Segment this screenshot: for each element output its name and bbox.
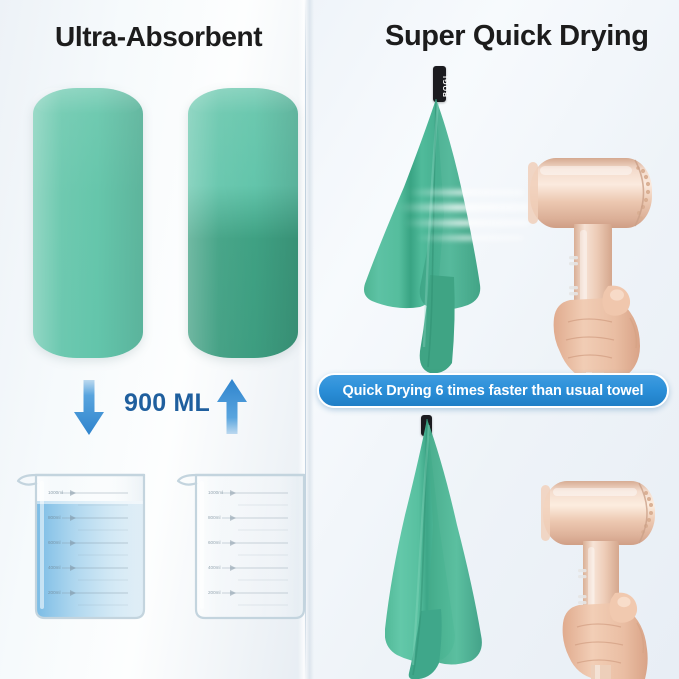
svg-text:200ml: 200ml xyxy=(208,590,221,595)
hair-dryer-top xyxy=(512,140,679,390)
beaker-empty: 1000ml 800ml 600ml 400ml 200ml xyxy=(176,459,320,625)
left-panel-title: Ultra-Absorbent xyxy=(55,21,262,53)
quick-drying-badge-label: Quick Drying 6 times faster than usual t… xyxy=(343,383,644,399)
dry-towel-roll xyxy=(33,88,143,358)
svg-text:800ml: 800ml xyxy=(48,515,61,520)
beaker-with-water: 1000ml 800ml 600ml 400ml 200ml xyxy=(16,459,160,625)
volume-label: 900 ML xyxy=(124,389,210,418)
svg-text:400ml: 400ml xyxy=(48,565,61,570)
dry-towel-roll-top xyxy=(33,88,143,114)
infographic-canvas: Ultra-Absorbent Super Quick Drying 900 M… xyxy=(0,0,679,679)
svg-text:800ml: 800ml xyxy=(208,515,221,520)
arrow-down-icon xyxy=(72,380,106,436)
hand xyxy=(554,286,640,384)
airflow-streak xyxy=(416,236,524,240)
wet-towel-roll-top xyxy=(188,88,298,114)
svg-text:600ml: 600ml xyxy=(48,540,61,545)
airflow-streak xyxy=(398,204,530,211)
hair-dryer-bottom xyxy=(527,465,679,679)
svg-text:600ml: 600ml xyxy=(208,540,221,545)
svg-text:200ml: 200ml xyxy=(48,590,61,595)
airflow-streak xyxy=(408,190,524,195)
svg-text:1000ml: 1000ml xyxy=(208,490,223,495)
brand-tag-label: BOGI xyxy=(443,75,450,97)
quick-drying-badge: Quick Drying 6 times faster than usual t… xyxy=(317,373,669,408)
svg-text:400ml: 400ml xyxy=(208,565,221,570)
wet-towel-roll xyxy=(188,88,298,358)
svg-text:1000ml: 1000ml xyxy=(48,490,63,495)
arrow-up-icon xyxy=(215,378,249,434)
right-panel-title: Super Quick Drying xyxy=(385,20,649,53)
